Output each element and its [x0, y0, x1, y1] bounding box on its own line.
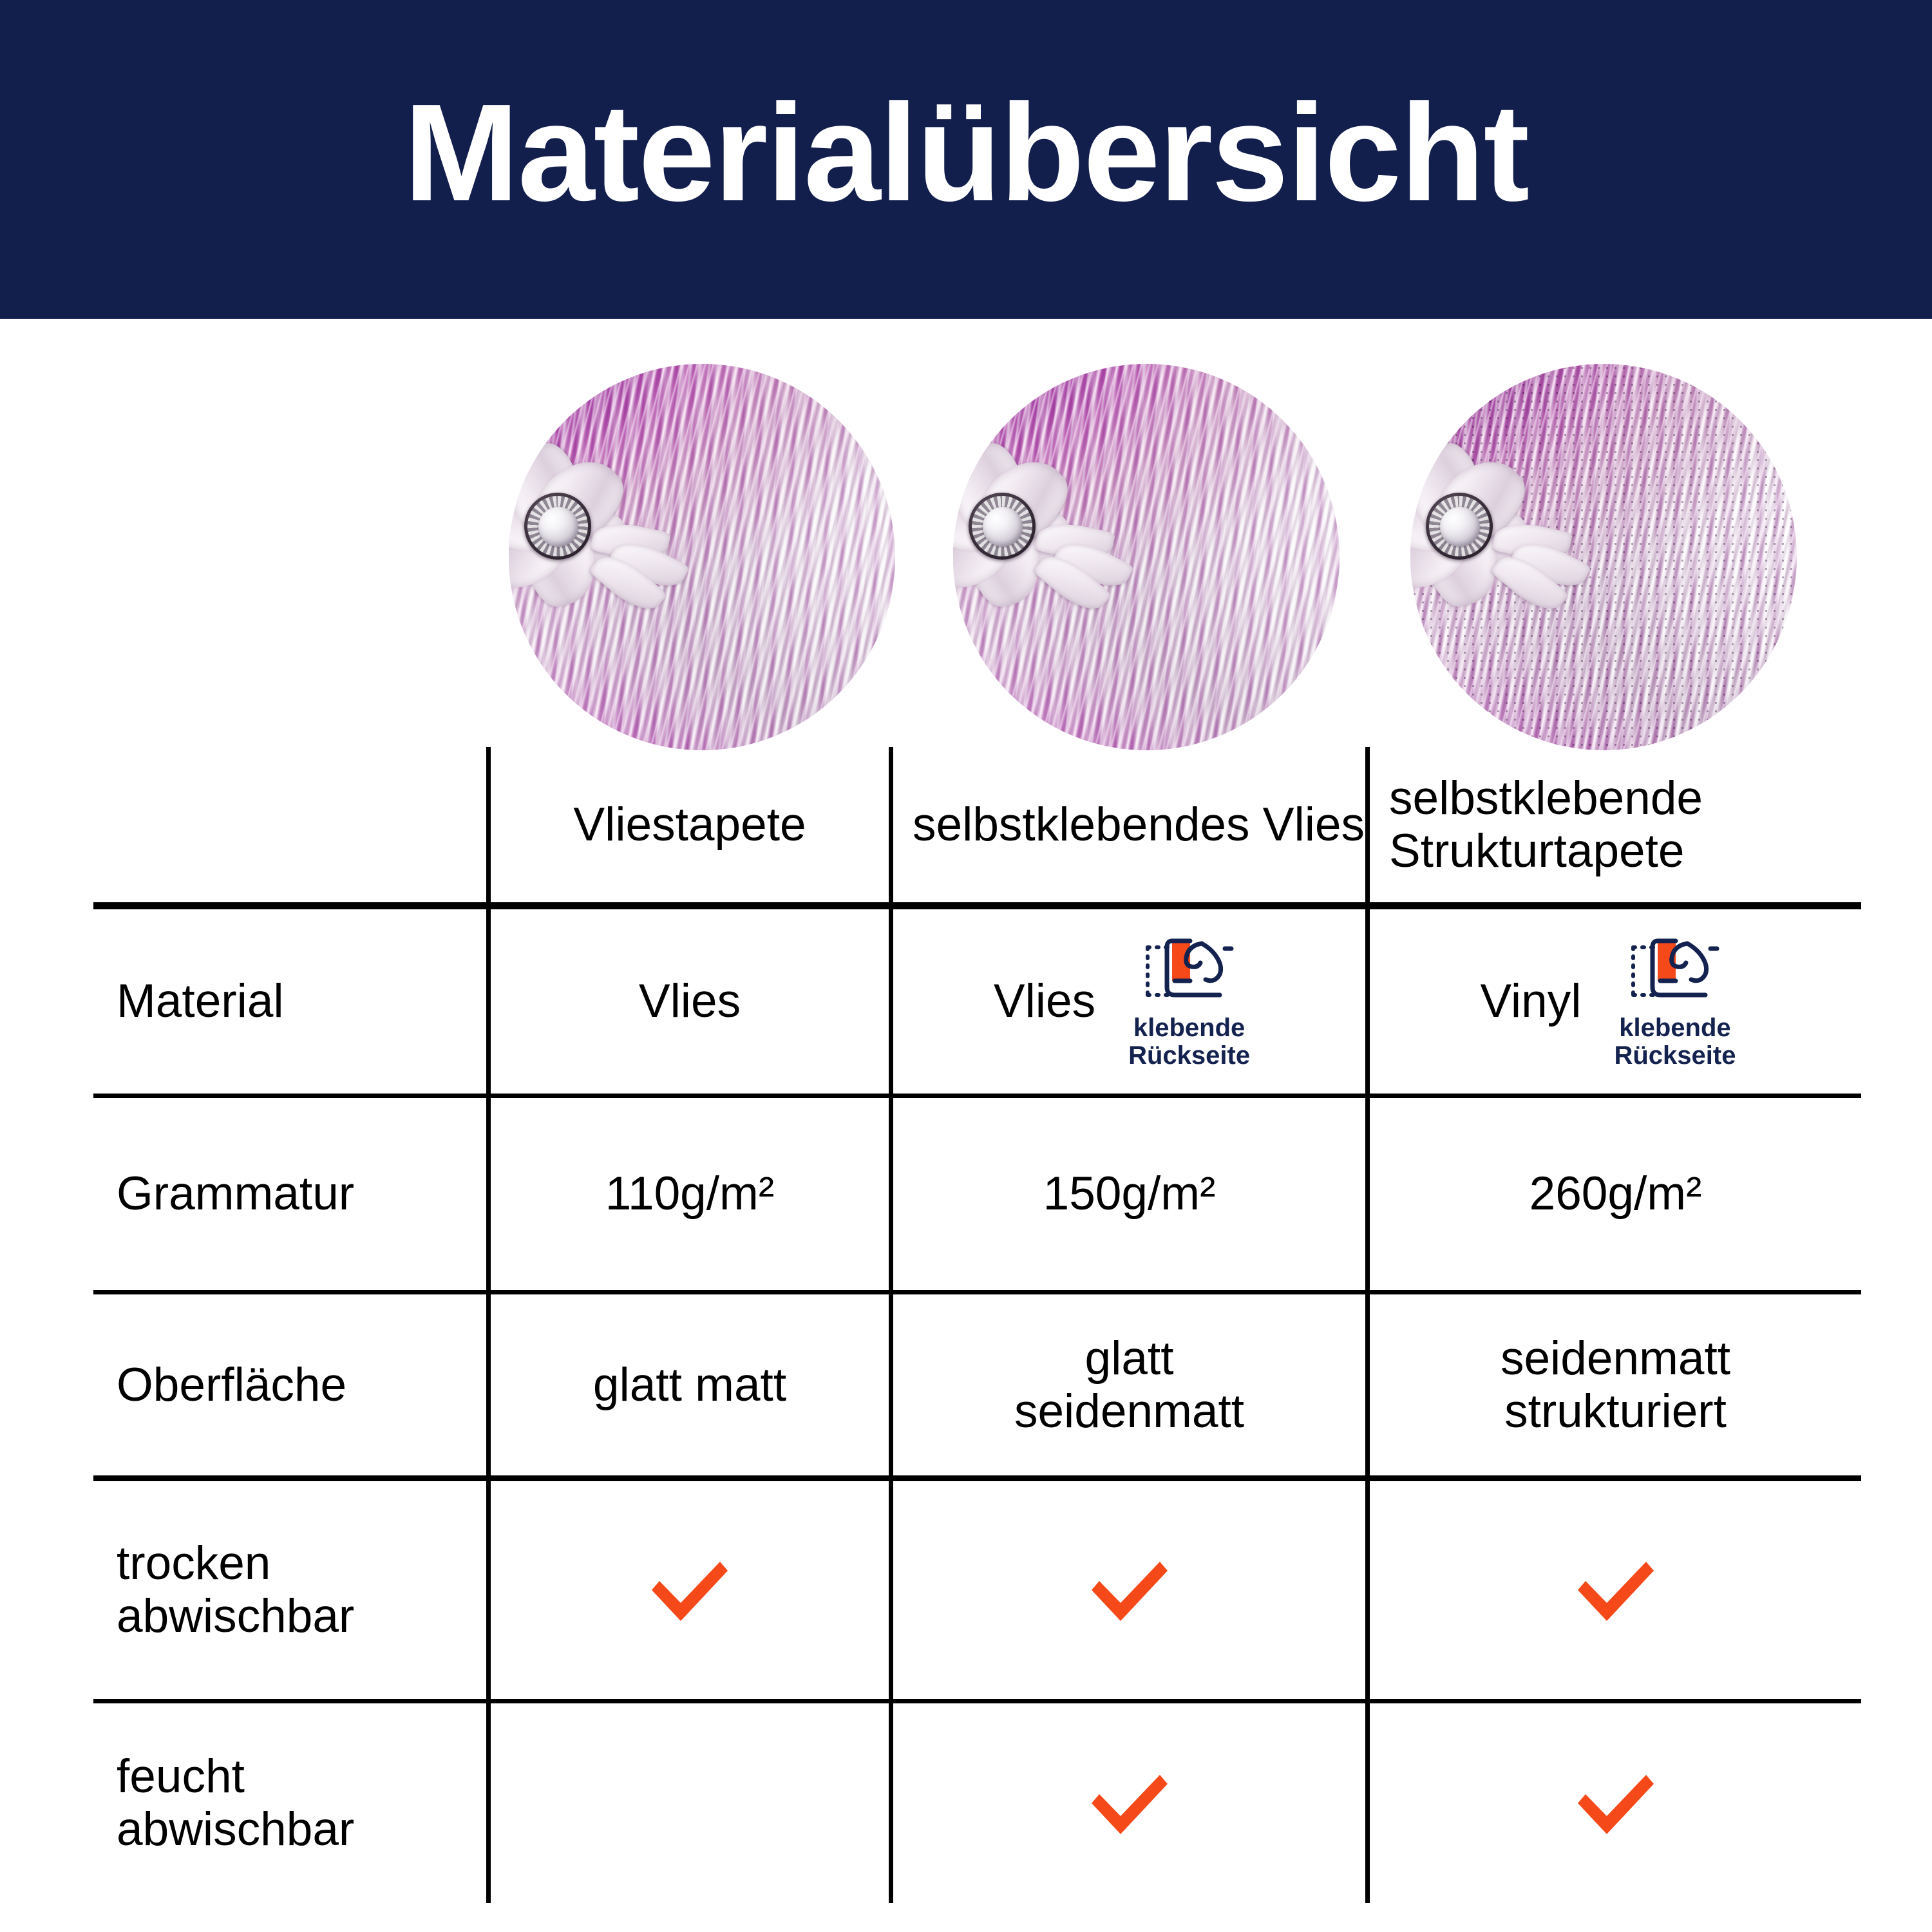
pearl-icon [1440, 507, 1480, 547]
pearl-icon [538, 507, 578, 547]
cell-grammatur-selbstklebende-strukturtapete: 260g/m² [1365, 1098, 1861, 1290]
column-header-selbstklebende-strukturtapete: selbstklebende Strukturtapete [1365, 747, 1861, 902]
satin-flower-ornament [1410, 428, 1642, 641]
material-comparison-table: Vliestapete selbstklebendes Vlies selbst… [93, 747, 1861, 1903]
page-title: Materialübersicht [0, 0, 1932, 319]
peel-adhesive-back-icon [1141, 933, 1238, 1009]
cell-material-selbstklebendes-vlies: Vlies klebende Rü [889, 909, 1365, 1094]
adhesive-badge-label: klebende Rückseite [1128, 1014, 1250, 1070]
checkmark-icon [1567, 1766, 1664, 1841]
row-label-trocken-abwischbar: trockenabwischbar [93, 1481, 486, 1699]
cell-value: Vlies [994, 975, 1095, 1028]
cell-material-selbstklebende-strukturtapete: Vinyl klebende Rü [1365, 909, 1861, 1094]
empty-cell [690, 1803, 690, 1804]
cell-material-vliestapete: Vlies [486, 909, 889, 1094]
table-row-trocken-abwischbar: trockenabwischbar [93, 1481, 1861, 1703]
table-row-feucht-abwischbar: feuchtabwischbar [93, 1703, 1861, 1903]
cell-trocken-selbstklebende-strukturtapete [1365, 1481, 1861, 1699]
checkmark-icon [1081, 1553, 1178, 1627]
table-row-oberflaeche: Oberfläche glatt matt glattseidenmatt se… [93, 1294, 1861, 1481]
table-corner-cell [93, 747, 486, 902]
cell-oberflaeche-selbstklebende-strukturtapete: seidenmattstrukturiert [1365, 1294, 1861, 1475]
row-label-oberflaeche: Oberfläche [93, 1294, 486, 1475]
thumbnail-row [0, 364, 1932, 770]
checkmark-icon [1567, 1553, 1664, 1627]
adhesive-back-badge: klebende Rückseite [1599, 933, 1750, 1070]
adhesive-badge-label: klebende Rückseite [1614, 1014, 1736, 1070]
pearl-icon [983, 507, 1023, 547]
product-thumbnail-selbstklebende-strukturtapete [1410, 364, 1797, 750]
cell-value: Vinyl [1481, 975, 1582, 1028]
peel-adhesive-back-icon [1627, 933, 1723, 1009]
row-label-feucht-abwischbar: feuchtabwischbar [93, 1703, 486, 1903]
satin-flower-ornament [509, 428, 741, 641]
table-header-row: Vliestapete selbstklebendes Vlies selbst… [93, 747, 1861, 909]
adhesive-back-badge: klebende Rückseite [1113, 933, 1265, 1070]
cell-feucht-selbstklebendes-vlies [889, 1703, 1365, 1903]
satin-flower-ornament [953, 428, 1185, 641]
table-row-material: Material Vlies Vlies [93, 909, 1861, 1098]
row-label-material: Material [93, 909, 486, 1094]
column-header-vliestapete: Vliestapete [486, 747, 889, 902]
column-header-selbstklebendes-vlies: selbstklebendes Vlies [889, 747, 1365, 902]
cell-grammatur-vliestapete: 110g/m² [486, 1098, 889, 1290]
cell-trocken-vliestapete [486, 1481, 889, 1699]
cell-feucht-vliestapete [486, 1703, 889, 1903]
checkmark-icon [1081, 1766, 1178, 1841]
cell-trocken-selbstklebendes-vlies [889, 1481, 1365, 1699]
cell-grammatur-selbstklebendes-vlies: 150g/m² [889, 1098, 1365, 1290]
product-thumbnail-selbstklebendes-vlies [953, 364, 1340, 750]
cell-oberflaeche-selbstklebendes-vlies: glattseidenmatt [889, 1294, 1365, 1475]
table-row-grammatur: Grammatur 110g/m² 150g/m² 260g/m² [93, 1098, 1861, 1294]
checkmark-icon [641, 1553, 738, 1627]
cell-oberflaeche-vliestapete: glatt matt [486, 1294, 889, 1475]
cell-feucht-selbstklebende-strukturtapete [1365, 1703, 1861, 1903]
row-label-grammatur: Grammatur [93, 1098, 486, 1290]
product-thumbnail-vliestapete [509, 364, 895, 750]
